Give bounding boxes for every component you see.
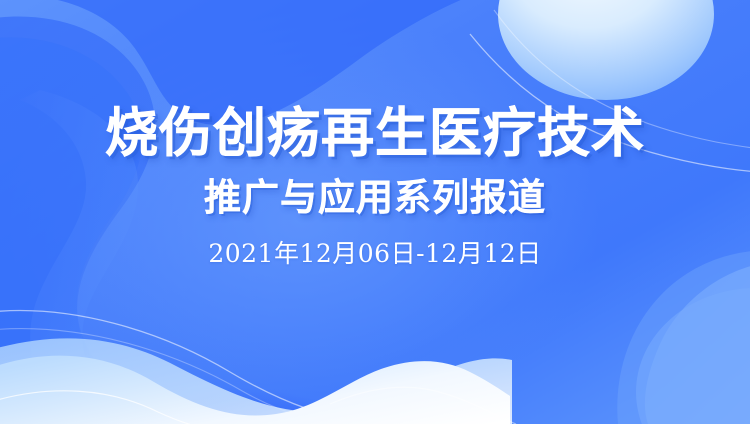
background-decoration <box>0 0 750 424</box>
banner-poster: 烧伤创疡再生医疗技术 推广与应用系列报道 2021年12月06日-12月12日 <box>0 0 750 424</box>
